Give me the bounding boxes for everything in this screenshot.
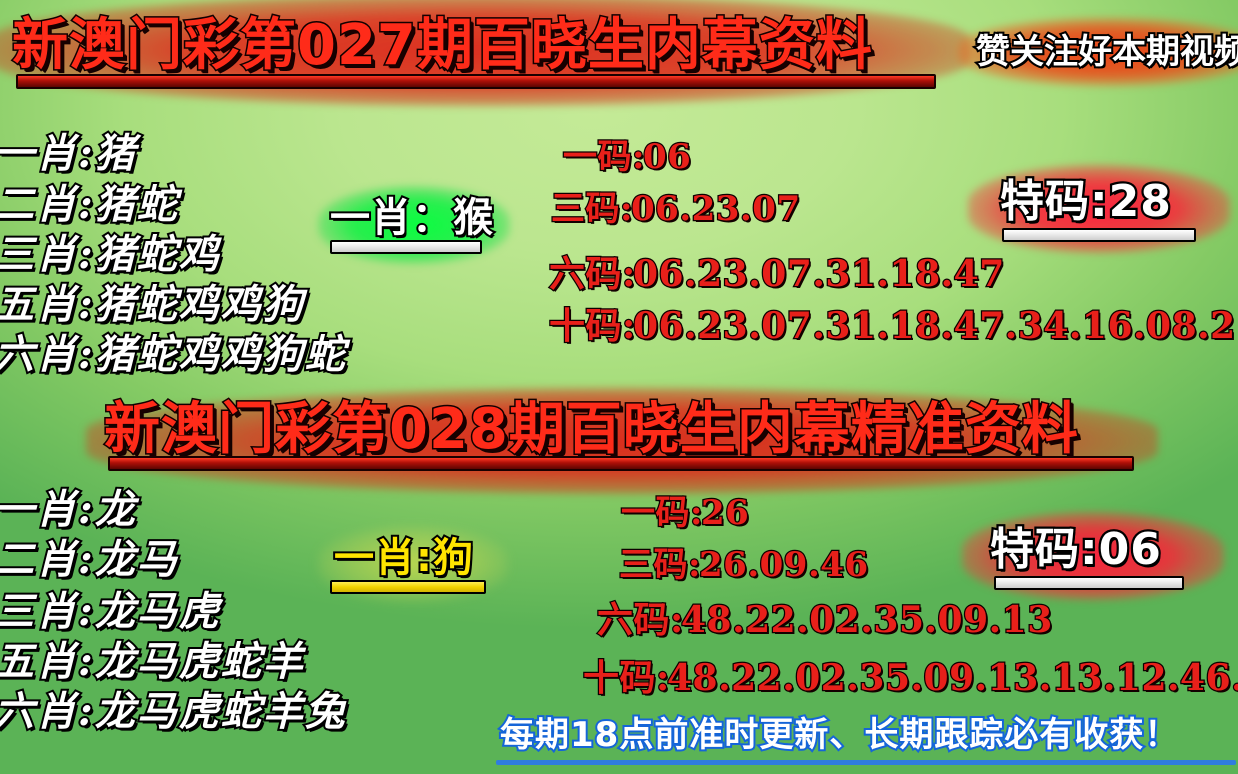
section-1-zodiac-1: 一肖:猪: [0, 134, 137, 174]
section-1-code-1-value: 06: [643, 140, 691, 174]
section-1-code-10-value: 06.23.07.31.18.47.34.16.08.21: [633, 308, 1238, 344]
section-2-code-10-label: 十码:: [583, 660, 670, 696]
section-1-pick-underline: [330, 240, 482, 254]
section-2-zodiac-5: 五肖:龙马虎蛇羊: [0, 642, 305, 682]
poster-canvas: 新澳门彩第027期百晓生内幕资料 赞关注好本期视频 一肖:猪 二肖:猪蛇 三肖:…: [0, 0, 1238, 774]
section-2-title-underline: [108, 456, 1134, 471]
section-2-special: 特码:06: [990, 528, 1162, 572]
section-1-zodiac-5: 五肖:猪蛇鸡鸡狗: [0, 285, 305, 325]
section-1-title: 新澳门彩第027期百晓生内幕资料: [12, 18, 873, 74]
section-1-pick: 一肖：猴: [330, 198, 494, 238]
section-2-zodiac-2: 二肖:龙马: [0, 540, 179, 580]
section-1-code-1-label: 一码:: [563, 140, 645, 174]
section-2-code-1-value: 26: [701, 496, 749, 530]
section-2-code-6-label: 六码:: [597, 602, 684, 638]
section-2-zodiac-3: 三肖:龙马虎: [0, 592, 221, 632]
section-2-code-6-value: 48.22.02.35.09.13: [681, 602, 1053, 638]
section-2-pick: 一肖:狗: [334, 538, 474, 578]
section-1-code-6-value: 06.23.07.31.18.47: [633, 256, 1005, 292]
section-2-pick-underline: [330, 580, 486, 594]
section-1-code-3-value: 06.23.07: [631, 192, 801, 226]
corner-note: 赞关注好本期视频: [976, 35, 1238, 69]
section-1-code-3-label: 三码:: [551, 192, 633, 226]
section-2-zodiac-6: 六肖:龙马虎蛇羊兔: [0, 692, 347, 732]
section-2-title: 新澳门彩第028期百晓生内幕精准资料: [104, 402, 1079, 458]
footer-note: 每期18点前准时更新、长期跟踪必有收获！: [500, 718, 1179, 752]
section-1-zodiac-2: 二肖:猪蛇: [0, 185, 179, 225]
section-1-title-underline: [16, 74, 936, 89]
section-1-zodiac-3: 三肖:猪蛇鸡: [0, 235, 221, 275]
section-2-code-3-label: 三码:: [619, 548, 701, 582]
section-1-code-10-label: 十码:: [549, 308, 636, 344]
section-2-code-1-label: 一码:: [621, 496, 703, 530]
section-1-special: 特码:28: [1000, 180, 1172, 224]
section-2-zodiac-1: 一肖:龙: [0, 490, 137, 530]
section-2-special-underline: [994, 576, 1184, 590]
section-1-special-underline: [1002, 228, 1196, 242]
section-1-zodiac-6: 六肖:猪蛇鸡鸡狗蛇: [0, 335, 347, 375]
section-2-code-3-value: 26.09.46: [699, 548, 869, 582]
section-2-code-10-value: 48.22.02.35.09.13.13.12.46.26.03: [667, 660, 1238, 696]
footer-note-underline: [496, 760, 1236, 765]
section-1-code-6-label: 六码:: [549, 256, 636, 292]
